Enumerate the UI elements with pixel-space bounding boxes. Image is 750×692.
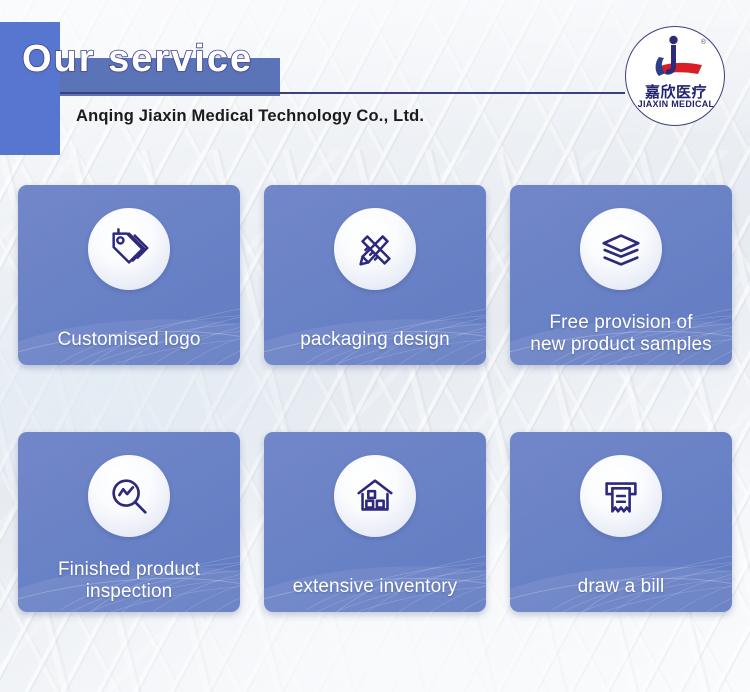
service-card-packaging-design[interactable]: packaging design <box>264 185 486 365</box>
service-card-label: Customised logo <box>26 329 232 351</box>
price-tags-icon <box>88 208 170 290</box>
service-card-customised-logo[interactable]: Customised logo <box>18 185 240 365</box>
receipt-icon <box>580 455 662 537</box>
service-card-label: Free provision of new product samples <box>518 312 724 356</box>
magnifier-chart-icon <box>88 455 170 537</box>
company-logo: ® 嘉欣医疗 JIAXIN MEDICAL <box>625 26 725 126</box>
page-header: Our service Anqing Jiaxin Medical Techno… <box>0 0 750 175</box>
service-cards-grid: Customised logo <box>18 185 732 612</box>
service-card-label: packaging design <box>272 329 478 351</box>
warehouse-icon <box>334 455 416 537</box>
header-divider-line <box>60 92 625 94</box>
company-name: Anqing Jiaxin Medical Technology Co., Lt… <box>76 107 424 126</box>
pen-ruler-icon <box>334 208 416 290</box>
service-card-extensive-inventory[interactable]: extensive inventory <box>264 432 486 612</box>
service-card-label: draw a bill <box>518 576 724 598</box>
layers-icon <box>580 208 662 290</box>
service-card-draw-a-bill[interactable]: draw a bill <box>510 432 732 612</box>
service-card-label: Finished product inspection <box>26 559 232 603</box>
logo-english-name: JIAXIN MEDICAL <box>626 99 725 109</box>
logo-trademark-symbol: ® <box>701 39 706 46</box>
service-card-finished-product-inspection[interactable]: Finished product inspection <box>18 432 240 612</box>
service-card-free-samples[interactable]: Free provision of new product samples <box>510 185 732 365</box>
page-title: Our service <box>22 38 253 81</box>
logo-monogram-icon <box>626 33 725 85</box>
service-card-label: extensive inventory <box>272 576 478 598</box>
